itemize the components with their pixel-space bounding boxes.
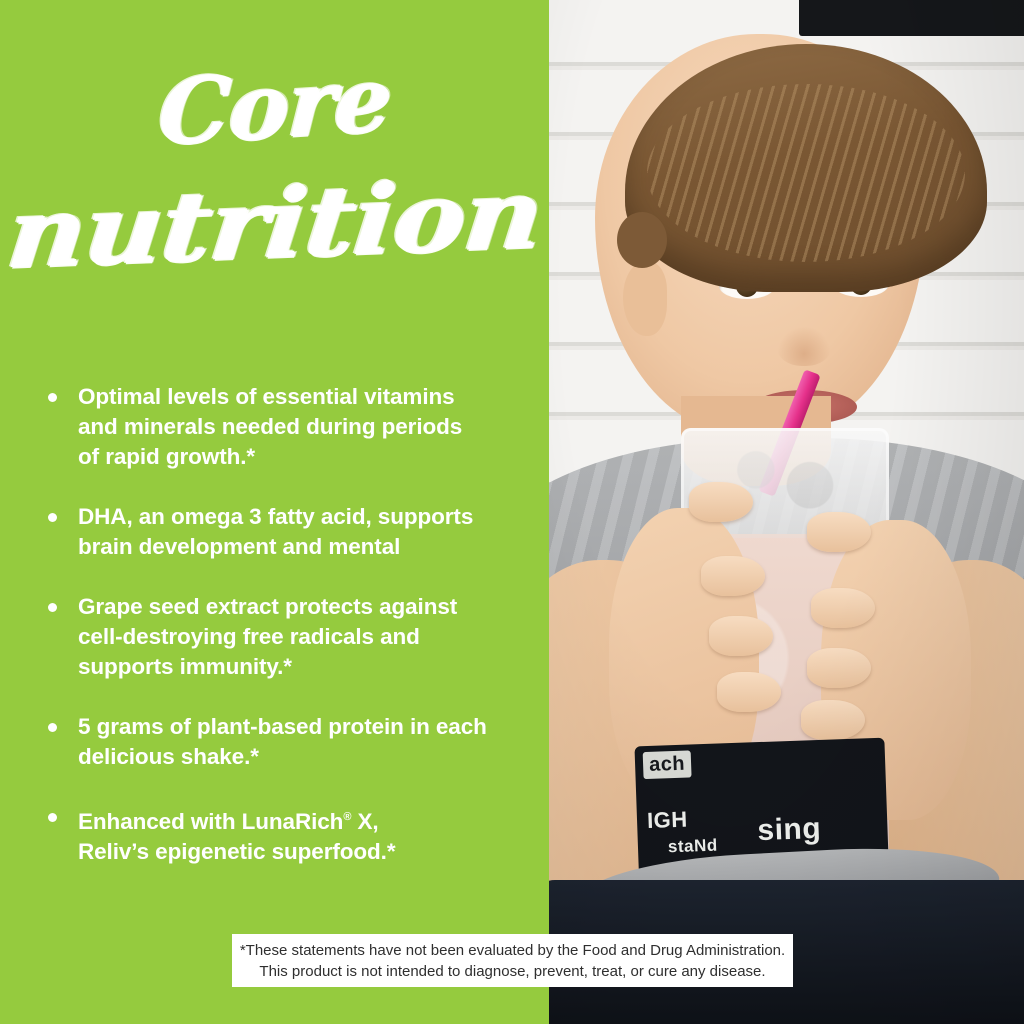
list-item: Optimal levels of essential vitamins and… (40, 382, 540, 472)
child-drinking-shake-photo: ach IGH staNd sing LOUD (549, 0, 1024, 1024)
bullet-dot-icon (48, 603, 57, 612)
bullet-dot-icon (48, 723, 57, 732)
bullet-dot-icon (48, 513, 57, 522)
photo-vignette (549, 0, 1024, 1024)
bullet-text: Optimal levels of essential vitamins and… (78, 382, 540, 472)
bullet-dot-icon (48, 813, 57, 822)
fda-disclaimer-box: *These statements have not been evaluate… (232, 934, 793, 987)
bullet-text: Enhanced with LunaRich® X, Reliv’s epige… (78, 802, 540, 867)
list-item: DHA, an omega 3 fatty acid, supports bra… (40, 502, 540, 562)
list-item: Grape seed extract protects against cell… (40, 592, 540, 682)
list-item: Enhanced with LunaRich® X, Reliv’s epige… (40, 802, 540, 867)
list-item: 5 grams of plant-based protein in each d… (40, 712, 540, 772)
poster-canvas: Core nutrition Optimal levels of essenti… (0, 0, 1024, 1024)
bullet-text-prefix: Enhanced with LunaRich (78, 809, 343, 834)
disclaimer-line-2: This product is not intended to diagnose… (259, 961, 765, 982)
bullet-dot-icon (48, 393, 57, 402)
bullet-text: 5 grams of plant-based protein in each d… (78, 712, 540, 772)
disclaimer-line-1: *These statements have not been evaluate… (240, 940, 785, 961)
bullet-text: Grape seed extract protects against cell… (78, 592, 540, 682)
benefits-list: Optimal levels of essential vitamins and… (40, 382, 540, 867)
bullet-text: DHA, an omega 3 fatty acid, supports bra… (78, 502, 540, 562)
